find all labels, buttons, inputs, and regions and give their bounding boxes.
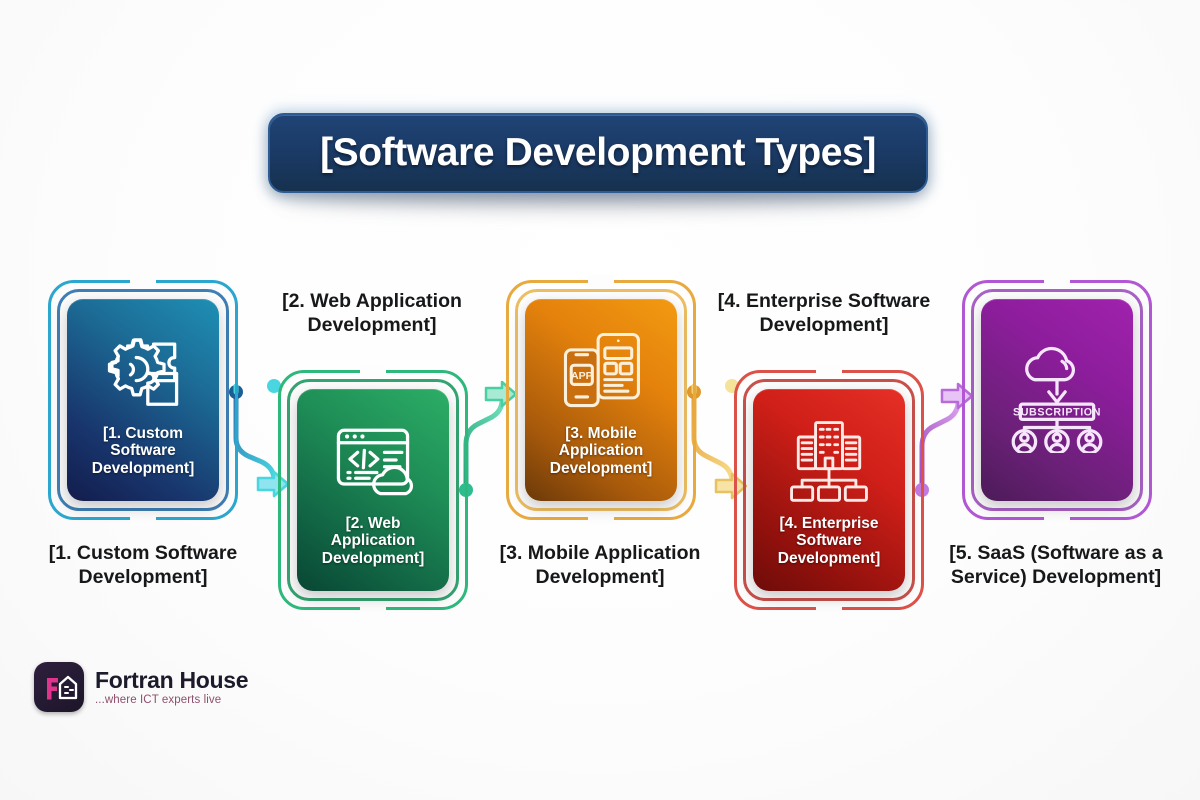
browser-code-cloud-icon <box>325 413 421 509</box>
caption-mobile-application-development: [3. Mobile Application Development] <box>485 542 715 590</box>
card-body[interactable]: [4. EnterpriseSoftwareDevelopment] <box>753 389 905 591</box>
card-body[interactable]: APP [3. MobileApplicationDevelopment] <box>525 299 677 501</box>
caption-enterprise-software-development: [4. Enterprise Software Development] <box>709 290 939 338</box>
card-web-application-development[interactable]: [2. WebApplicationDevelopment] <box>278 370 468 610</box>
card-body[interactable]: [1. CustomSoftwareDevelopment] <box>67 299 219 501</box>
card-body[interactable]: SUBSCRIPTION <box>981 299 1133 501</box>
card-inner-label: [2. WebApplicationDevelopment] <box>322 515 425 568</box>
card-body[interactable]: [2. WebApplicationDevelopment] <box>297 389 449 591</box>
buildings-network-icon <box>781 413 877 509</box>
card-enterprise-software-development[interactable]: [4. EnterpriseSoftwareDevelopment] <box>734 370 924 610</box>
brand-name: Fortran House <box>95 668 248 692</box>
infographic-canvas: [Software Development Types] <box>0 0 1200 800</box>
card-inner-label: [3. MobileApplicationDevelopment] <box>550 425 653 478</box>
card-custom-software-development[interactable]: [1. CustomSoftwareDevelopment] <box>48 280 238 520</box>
frame-gap-bottom <box>816 599 842 615</box>
title-text: [Software Development Types] <box>320 131 876 175</box>
title-bar: [Software Development Types] <box>268 113 928 193</box>
frame-gap-bottom <box>588 509 614 525</box>
frame-gap-bottom <box>360 599 386 615</box>
card-saas-development[interactable]: SUBSCRIPTION <box>962 280 1152 520</box>
caption-saas-development: [5. SaaS (Software as a Service) Develop… <box>941 542 1171 590</box>
caption-custom-software-development: [1. Custom Software Development] <box>28 542 258 590</box>
card-inner-label: [4. EnterpriseSoftwareDevelopment] <box>778 515 881 568</box>
frame-gap-bottom <box>1044 509 1070 525</box>
frame-gap-bottom <box>130 509 156 525</box>
cloud-subscription-users-icon: SUBSCRIPTION <box>1001 341 1113 453</box>
brand-tagline: ...where ICT experts live <box>95 694 248 706</box>
icon-app-text: APP <box>571 370 593 382</box>
fortran-house-logo-icon <box>34 662 84 712</box>
card-mobile-application-development[interactable]: APP [3. MobileApplicationDevelopment] <box>506 280 696 520</box>
brand-logo[interactable]: Fortran House ...where ICT experts live <box>34 662 248 712</box>
page-title: [Software Development Types] <box>268 113 928 193</box>
brand-text: Fortran House ...where ICT experts live <box>95 668 248 706</box>
card-inner-label: [1. CustomSoftwareDevelopment] <box>92 425 195 478</box>
phone-tablet-icon: APP <box>553 323 649 419</box>
gear-puzzle-icon <box>95 323 191 419</box>
icon-subscription-text: SUBSCRIPTION <box>1013 407 1101 419</box>
caption-web-application-development: [2. Web Application Development] <box>257 290 487 338</box>
